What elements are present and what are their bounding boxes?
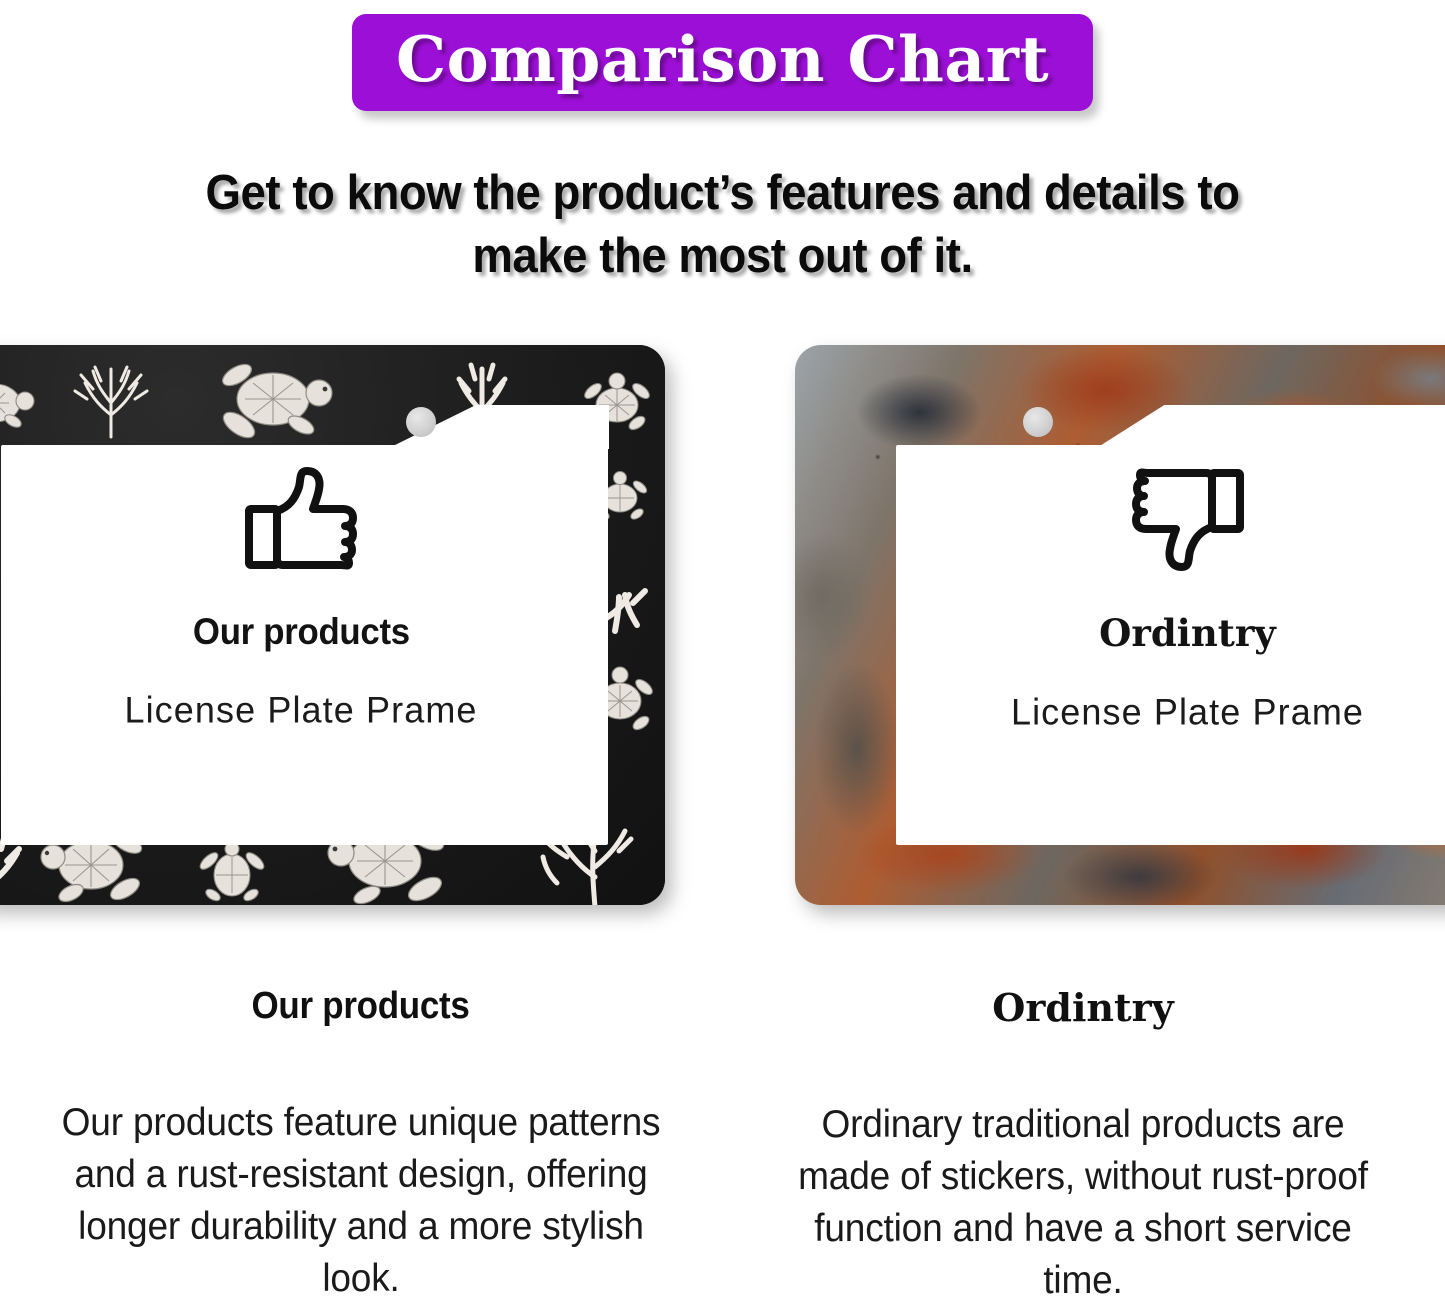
- ordinary-product-brand-name: Ordintry: [1099, 611, 1276, 655]
- our-product-frame: Our products License Plate Prame: [0, 345, 665, 905]
- comparison-columns: Our products Our products feature unique…: [0, 985, 1445, 1314]
- thumbs-down-icon: [1130, 465, 1246, 573]
- ordinary-product-column: Ordintry Ordinary traditional products a…: [722, 985, 1444, 1314]
- sea-turtle-icon: [197, 839, 267, 905]
- our-product-line: License Plate Prame: [124, 688, 477, 731]
- our-product-column: Our products Our products feature unique…: [0, 985, 722, 1314]
- our-product-brand-name: Our products: [193, 611, 410, 653]
- page-subtitle: Get to know the product’s features and d…: [51, 162, 1395, 287]
- ordinary-product-column-heading: Ordintry: [992, 985, 1173, 1030]
- ordinary-product-window-content: Ordintry License Plate Prame: [896, 465, 1445, 733]
- mounting-hole: [406, 407, 436, 437]
- our-product-description: Our products feature unique patterns and…: [57, 1097, 665, 1304]
- thumbs-up-icon: [243, 465, 359, 573]
- header-banner-wrapper: Comparison Chart: [0, 14, 1445, 111]
- ordinary-product-line: License Plate Prame: [1011, 690, 1364, 733]
- comparison-chart-page: Comparison Chart Get to know the product…: [0, 0, 1445, 1314]
- sea-turtle-icon: [215, 363, 345, 441]
- sea-turtle-icon: [0, 371, 37, 435]
- coral-icon: [63, 359, 159, 439]
- ordinary-product-description: Ordinary traditional products are made o…: [779, 1099, 1387, 1306]
- our-product-window-content: Our products License Plate Prame: [1, 465, 601, 731]
- mounting-hole: [1023, 407, 1053, 437]
- product-frames-row: Our products License Plate Prame: [0, 345, 1445, 920]
- header-banner: Comparison Chart: [352, 14, 1093, 111]
- ordinary-product-frame: Ordintry License Plate Prame: [795, 345, 1445, 905]
- page-title: Comparison Chart: [396, 24, 1049, 95]
- our-product-column-heading: Our products: [252, 985, 470, 1028]
